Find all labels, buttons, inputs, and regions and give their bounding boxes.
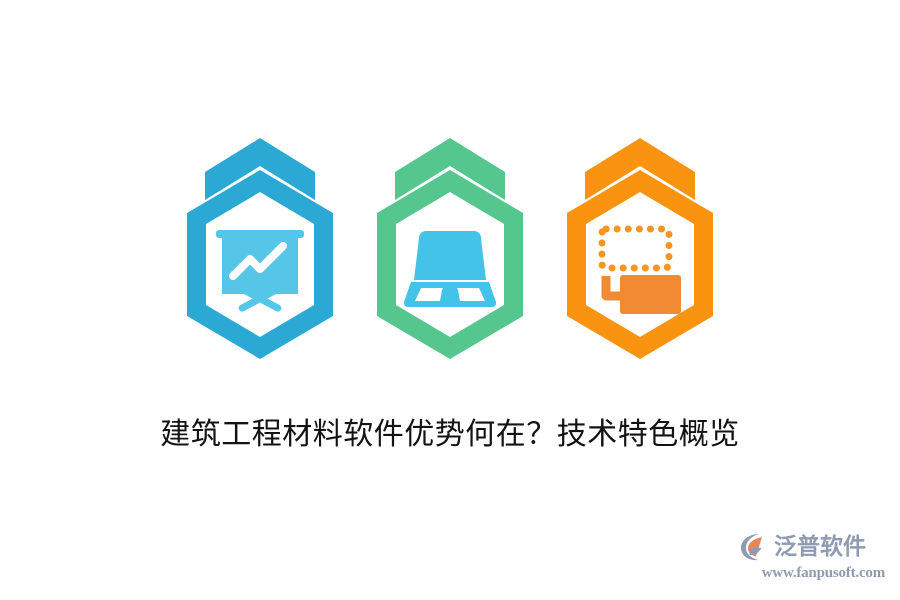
badge-selection-graphic bbox=[545, 130, 735, 360]
badge-analytics-graphic bbox=[165, 130, 355, 360]
page-title: 建筑工程材料软件优势何在？技术特色概览 bbox=[0, 413, 900, 457]
fanpu-logo-icon bbox=[740, 532, 770, 562]
watermark-logo[interactable]: 泛普软件 www.fanpusoft.com bbox=[740, 530, 886, 588]
watermark-brand-row: 泛普软件 bbox=[740, 530, 886, 564]
badge-laptop-graphic bbox=[355, 130, 545, 360]
presentation-chart-icon bbox=[216, 230, 304, 313]
badge-analytics bbox=[165, 130, 355, 360]
selection-crop-icon bbox=[602, 229, 681, 314]
watermark-url[interactable]: www.fanpusoft.com bbox=[740, 564, 886, 582]
badge-row bbox=[0, 130, 900, 360]
banner-canvas: 建筑工程材料软件优势何在？技术特色概览 泛普软件 www.fanpusoft.c… bbox=[0, 0, 900, 600]
watermark-brand-name: 泛普软件 bbox=[774, 532, 866, 562]
badge-selection bbox=[545, 130, 735, 360]
hexagon-frame bbox=[567, 170, 713, 359]
laptop-icon bbox=[404, 231, 496, 307]
badge-laptop bbox=[355, 130, 545, 360]
